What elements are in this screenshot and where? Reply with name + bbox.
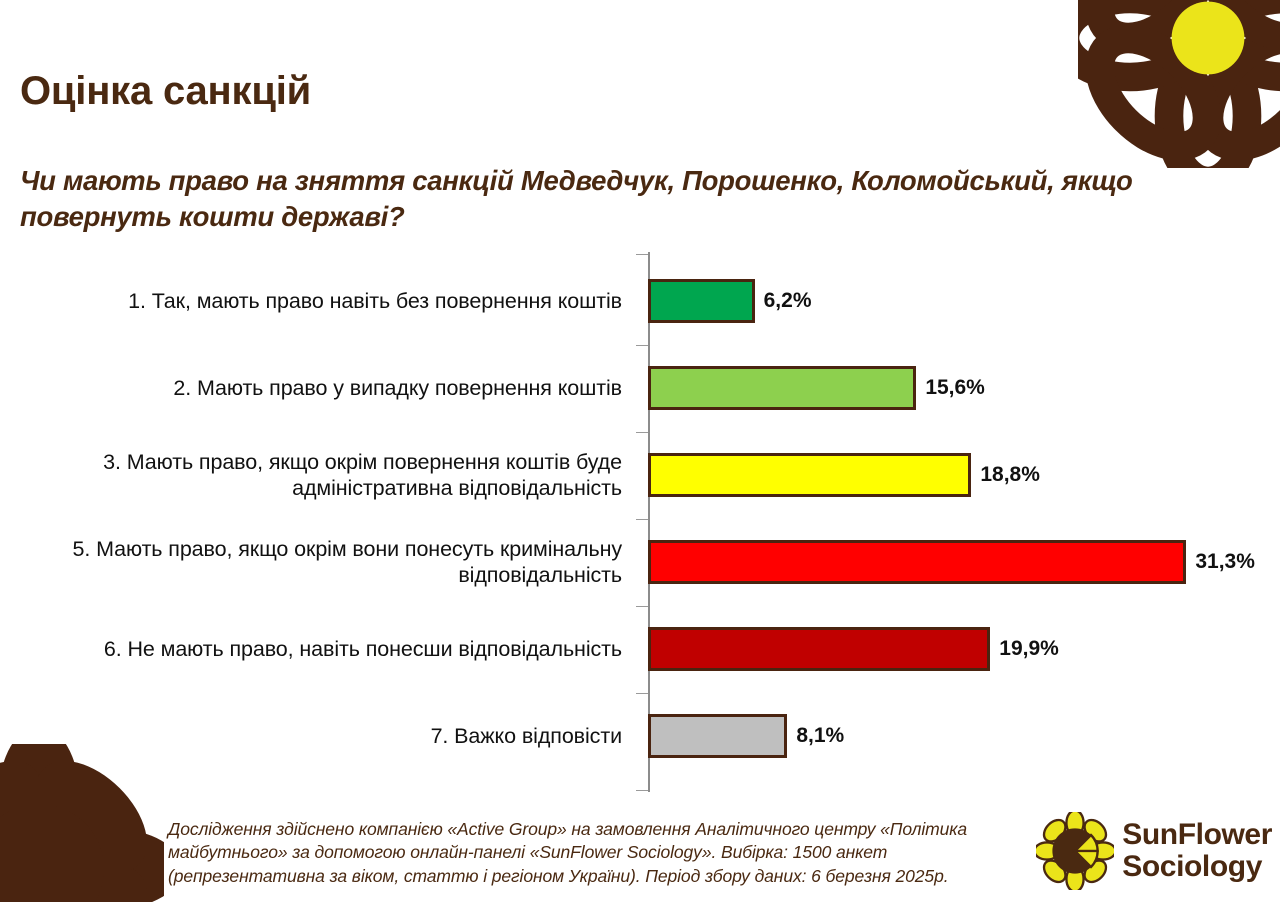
brand-line-1: SunFlower (1122, 819, 1272, 851)
bar-chart: 1. Так, мають право навіть без поверненн… (0, 252, 1280, 792)
bar (648, 540, 1186, 584)
bar (648, 279, 755, 323)
brand-wordmark: SunFlower Sociology (1122, 819, 1272, 883)
bar-value-label: 6,2% (764, 289, 812, 313)
bar-with-value: 31,3% (648, 540, 1255, 584)
brand-logo: SunFlower Sociology (1036, 812, 1272, 890)
bar-category-label: 1. Так, мають право навіть без поверненн… (22, 288, 622, 314)
bar-category-label: 3. Мають право, якщо окрім повернення ко… (22, 449, 622, 501)
axis-tick (636, 606, 648, 607)
bar-row: 7. Важко відповісти8,1% (0, 714, 1280, 758)
axis-end-cap (636, 254, 648, 255)
axis-end-cap (636, 790, 648, 791)
bar-with-value: 6,2% (648, 279, 812, 323)
bar-value-label: 31,3% (1195, 550, 1255, 574)
bar-category-label: 5. Мають право, якщо окрім вони понесуть… (22, 536, 622, 588)
bar-with-value: 15,6% (648, 366, 985, 410)
bar-category-label: 7. Важко відповісти (22, 723, 622, 749)
bar-row: 3. Мають право, якщо окрім повернення ко… (0, 453, 1280, 497)
bar-row: 2. Мають право у випадку повернення кошт… (0, 366, 1280, 410)
bar-value-label: 19,9% (999, 637, 1059, 661)
bar-with-value: 19,9% (648, 627, 1059, 671)
chart-category-axis (648, 252, 650, 792)
bar-value-label: 15,6% (925, 376, 985, 400)
bar (648, 453, 971, 497)
bar-value-label: 8,1% (796, 724, 844, 748)
axis-tick (636, 519, 648, 520)
decorative-flower-top-right (1078, 0, 1280, 168)
bar-row: 1. Так, мають право навіть без поверненн… (0, 279, 1280, 323)
bar-category-label: 2. Мають право у випадку повернення кошт… (22, 375, 622, 401)
bar (648, 627, 990, 671)
bar-row: 6. Не мають право, навіть понесши відпов… (0, 627, 1280, 671)
sunflower-icon (1036, 812, 1114, 890)
methodology-note: Дослідження здійснено компанією «Active … (168, 818, 1018, 890)
bar (648, 714, 787, 758)
bar-value-label: 18,8% (980, 463, 1040, 487)
brand-text: SunFlower Sociology (1122, 819, 1272, 883)
axis-tick (636, 432, 648, 433)
brand-line-2: Sociology (1122, 851, 1272, 883)
bar-with-value: 8,1% (648, 714, 844, 758)
page-title: Оцінка санкцій (20, 69, 311, 114)
bar-row: 5. Мають право, якщо окрім вони понесуть… (0, 540, 1280, 584)
bar-with-value: 18,8% (648, 453, 1040, 497)
slide: Оцінка санкцій Чи мають право на зняття … (0, 0, 1280, 902)
bar-category-label: 6. Не мають право, навіть понесши відпов… (22, 636, 622, 662)
bar (648, 366, 916, 410)
axis-tick (636, 345, 648, 346)
axis-tick (636, 693, 648, 694)
page-subtitle: Чи мають право на зняття санкцій Медведч… (20, 163, 1260, 236)
